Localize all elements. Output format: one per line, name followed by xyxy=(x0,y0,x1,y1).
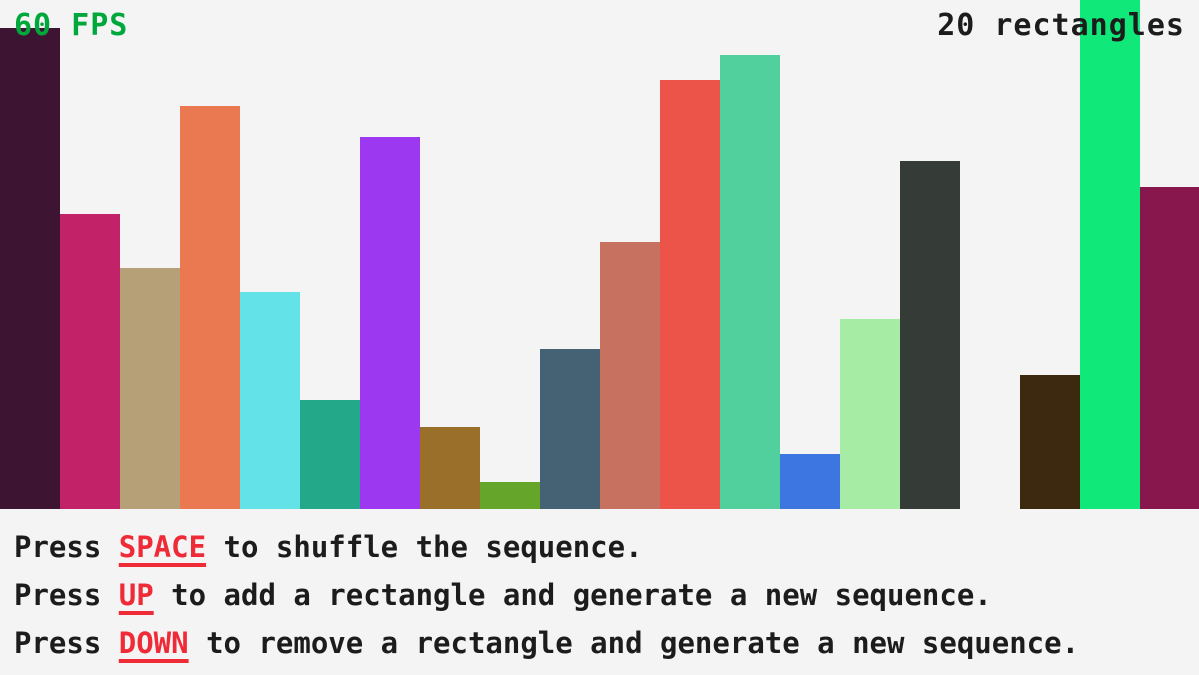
bar-16 xyxy=(900,161,960,509)
instruction-line-space: Press SPACE to shuffle the sequence. xyxy=(14,523,1199,571)
bar-20 xyxy=(1140,187,1199,509)
key-space[interactable]: SPACE xyxy=(119,530,206,564)
key-up[interactable]: UP xyxy=(119,578,154,612)
instruction-suffix: to add a rectangle and generate a new se… xyxy=(154,578,992,612)
bar-18 xyxy=(1020,375,1080,509)
bar-2 xyxy=(60,214,120,509)
instruction-line-up: Press UP to add a rectangle and generate… xyxy=(14,571,1199,619)
bar-5 xyxy=(240,292,300,509)
bar-19 xyxy=(1080,0,1140,509)
instruction-line-down: Press DOWN to remove a rectangle and gen… xyxy=(14,619,1199,667)
instruction-prefix: Press xyxy=(14,578,119,612)
instruction-prefix: Press xyxy=(14,626,119,660)
bar-9 xyxy=(480,482,540,509)
rectangle-count-label: 20 rectangles xyxy=(937,11,1185,41)
rectangle-shuffle-demo: 60 FPS 20 rectangles Press SPACE to shuf… xyxy=(0,0,1199,675)
bar-10 xyxy=(540,349,600,509)
bar-3 xyxy=(120,268,180,509)
bar-4 xyxy=(180,106,240,509)
bar-1 xyxy=(0,28,60,509)
bar-11 xyxy=(600,242,660,509)
fps-counter: 60 FPS xyxy=(14,11,128,41)
bar-13 xyxy=(720,55,780,509)
bar-14 xyxy=(780,454,840,509)
instruction-prefix: Press xyxy=(14,530,119,564)
instruction-suffix: to remove a rectangle and generate a new… xyxy=(189,626,1079,660)
key-down[interactable]: DOWN xyxy=(119,626,189,660)
bar-7 xyxy=(360,137,420,509)
instructions-panel: Press SPACE to shuffle the sequence. Pre… xyxy=(0,509,1199,675)
bar-8 xyxy=(420,427,480,509)
bar-chart xyxy=(0,0,1199,509)
instruction-suffix: to shuffle the sequence. xyxy=(206,530,643,564)
bar-15 xyxy=(840,319,900,509)
bar-6 xyxy=(300,400,360,509)
bar-12 xyxy=(660,80,720,509)
